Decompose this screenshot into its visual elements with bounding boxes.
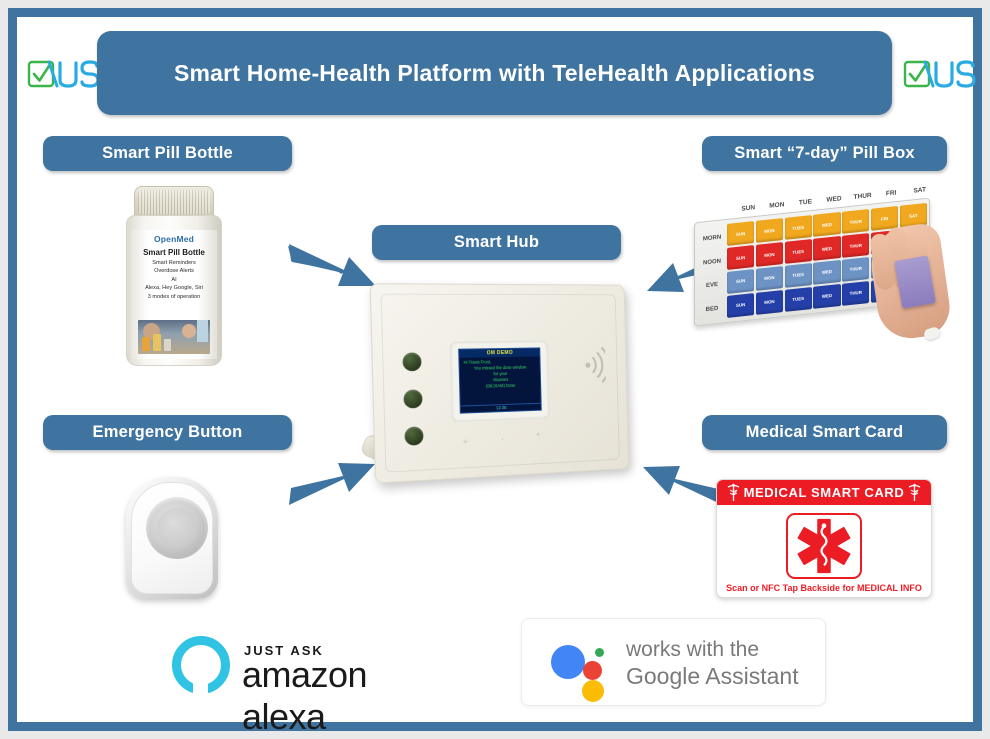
- checkbox-us-logo: [903, 56, 979, 92]
- google-dot-blue: [551, 645, 585, 679]
- hub-button-3[interactable]: [404, 426, 423, 445]
- medical-card-footer: Scan or NFC Tap Backside for MEDICAL INF…: [717, 583, 931, 593]
- google-assistant-icon: [551, 639, 607, 687]
- pill-box-compartment[interactable]: TUES: [785, 287, 812, 312]
- hub-screen-body: Hi Travis Frost, You missed the dose win…: [459, 356, 540, 390]
- pill-box-compartment[interactable]: WED: [813, 284, 840, 309]
- pill-box-time-labels: MORNNOONEVEBED: [697, 226, 727, 323]
- google-dot-green: [595, 648, 604, 657]
- pill-box-compartment[interactable]: SUN: [727, 269, 754, 294]
- smart-hub-image: OM DEMO Hi Travis Frost, You missed the …: [362, 272, 652, 490]
- hub-button-column: [402, 352, 424, 464]
- pill-box-compartment[interactable]: MON: [756, 218, 783, 243]
- pill-box-compartment[interactable]: WED: [813, 260, 840, 285]
- pill-box-compartment[interactable]: THUR: [842, 281, 869, 306]
- bottle-feature: Alexa, Hey Google, Siri: [131, 285, 217, 291]
- bottle-feature: Overdose Alerts: [131, 268, 217, 274]
- pill-box-time-label: NOON: [697, 258, 727, 268]
- bottle-feature: AI: [131, 277, 217, 283]
- pill-box-time-label: EVE: [697, 281, 727, 291]
- label-emergency-button: Emergency Button: [43, 415, 292, 450]
- google-badge-line1: works with the: [626, 638, 759, 662]
- pill-box-compartment[interactable]: THUR: [842, 233, 869, 258]
- hub-screen-time: 12:35: [461, 402, 541, 411]
- emergency-press-dome[interactable]: [146, 497, 208, 559]
- alexa-ring-icon: [172, 636, 230, 694]
- hub-mark-right: +: [536, 429, 541, 439]
- pill-box-compartment[interactable]: WED: [813, 236, 840, 261]
- pill-box-time-label: MORN: [697, 234, 727, 244]
- pill-box-compartment[interactable]: TUES: [785, 215, 812, 240]
- bottle-label-photo: [138, 320, 210, 354]
- pill-box-compartment[interactable]: THUR: [842, 257, 869, 282]
- hub-button-2[interactable]: [403, 389, 422, 408]
- pill-box-compartment[interactable]: SUN: [727, 245, 754, 270]
- pill-box-compartment[interactable]: MON: [756, 290, 783, 315]
- label-medical-smart-card: Medical Smart Card: [702, 415, 947, 450]
- pill-box-compartment[interactable]: TUES: [785, 263, 812, 288]
- label-smart-hub: Smart Hub: [372, 225, 621, 260]
- hub-mark-left: +: [462, 437, 468, 447]
- pill-box-compartment[interactable]: SUN: [727, 293, 754, 318]
- bottle-feature: 3 modes of operation: [131, 294, 217, 300]
- bottle-feature: Smart Reminders: [131, 260, 217, 266]
- pill-box-compartment[interactable]: SUN: [727, 221, 754, 246]
- amazon-alexa-logo: JUST ASK amazon alexa: [168, 626, 440, 704]
- pill-box-compartment[interactable]: THUR: [842, 209, 869, 234]
- photo-pill-bottle-3: [164, 339, 171, 351]
- caduceus-icon: [726, 483, 741, 502]
- pill-box-compartment[interactable]: WED: [813, 212, 840, 237]
- bottle-label-title: Smart Pill Bottle: [131, 248, 217, 257]
- hub-screen-frame: OM DEMO Hi Travis Frost, You missed the …: [450, 340, 550, 422]
- hub-button-1[interactable]: [402, 352, 421, 371]
- page-title: Smart Home-Health Platform with TeleHeal…: [97, 31, 892, 115]
- alexa-brand: amazon alexa: [242, 654, 440, 738]
- medical-smart-card-image: MEDICAL SMART CARD Scan or NFC Tap Backs…: [716, 479, 932, 598]
- checkbox-us-logo: [27, 56, 103, 92]
- pill-box-compartment[interactable]: MON: [756, 266, 783, 291]
- medical-card-header-bar: MEDICAL SMART CARD: [717, 480, 931, 505]
- star-of-life-frame: [786, 513, 862, 579]
- pill-box-time-label: BED: [697, 305, 727, 315]
- emergency-button-image: [126, 477, 218, 599]
- pill-box-compartment[interactable]: TUES: [785, 239, 812, 264]
- smart-pill-bottle-image: OpenMed Smart Pill Bottle Smart Reminder…: [126, 186, 222, 366]
- hub-screen-line: (08:15AM) Dose: [462, 382, 538, 390]
- google-dot-yellow: [582, 680, 604, 702]
- label-smart-pill-box: Smart “7-day” Pill Box: [702, 136, 947, 171]
- slide-canvas: Smart Home-Health Platform with TeleHeal…: [0, 0, 990, 739]
- label-smart-pill-bottle: Smart Pill Bottle: [43, 136, 292, 171]
- smart-7day-pill-box-image: SUNMONTUEWEDTHURFRISAT MORNNOONEVEBED SU…: [694, 196, 946, 341]
- bottle-label: OpenMed Smart Pill Bottle Smart Reminder…: [131, 230, 217, 359]
- photo-window: [197, 320, 208, 342]
- caduceus-icon: [907, 483, 922, 502]
- hub-mark-center: •: [502, 437, 504, 443]
- photo-pill-bottle-1: [142, 337, 150, 351]
- photo-pill-bottle-2: [153, 334, 161, 351]
- star-of-life-icon: [795, 517, 853, 575]
- wireless-signal-icon: [581, 345, 606, 384]
- hub-body: OM DEMO Hi Travis Frost, You missed the …: [370, 283, 629, 484]
- pill-box-compartment[interactable]: MON: [756, 242, 783, 267]
- google-dot-red: [583, 661, 602, 680]
- bottle-body: OpenMed Smart Pill Bottle Smart Reminder…: [126, 215, 222, 366]
- google-badge-line2: Google Assistant: [626, 663, 799, 690]
- hub-display: OM DEMO Hi Travis Frost, You missed the …: [458, 347, 542, 413]
- medical-card-title: MEDICAL SMART CARD: [744, 485, 905, 500]
- bottle-brand: OpenMed: [131, 234, 217, 244]
- emergency-button-shell: [126, 477, 218, 599]
- photo-person-child: [182, 324, 196, 338]
- google-assistant-badge: works with the Google Assistant: [521, 618, 826, 706]
- emergency-button-face: [131, 482, 213, 594]
